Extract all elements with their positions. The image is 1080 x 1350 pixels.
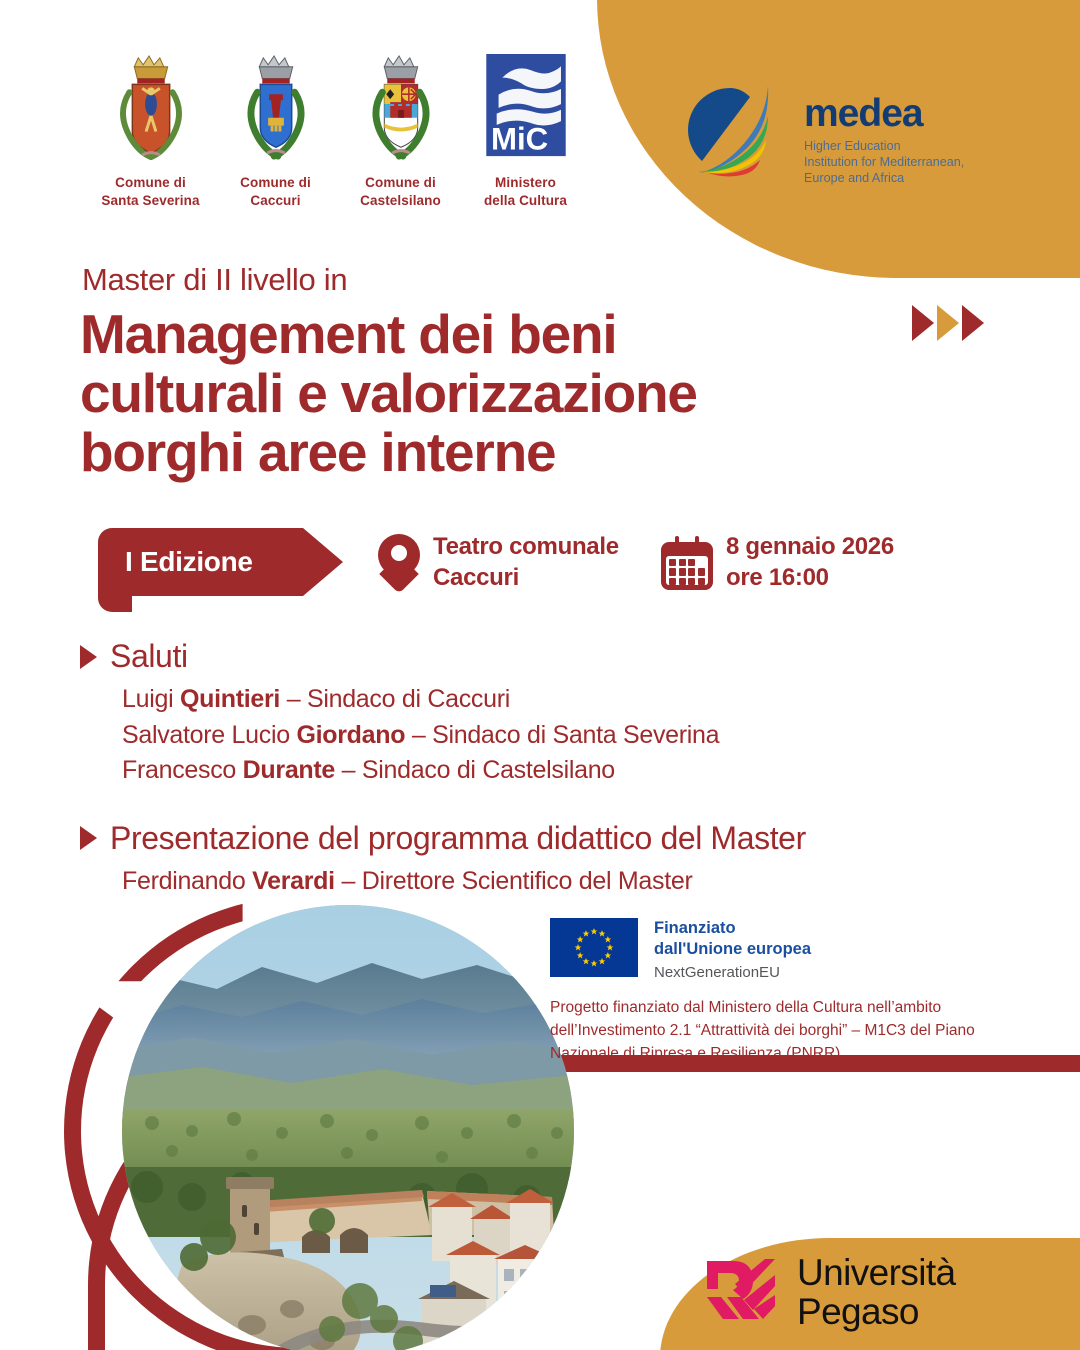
speaker-lastname: Durante xyxy=(243,756,335,784)
partner-caption-line2: Castelsilano xyxy=(338,192,463,210)
partner-caption: Comune di Santa Severina xyxy=(88,174,213,210)
program-entry: Salvatore Lucio Giordano – Sindaco di Sa… xyxy=(122,718,980,754)
triple-arrow-decoration xyxy=(912,305,984,341)
venue-info: Teatro comunale Caccuri xyxy=(378,532,619,593)
partner-caption: Comune di Castelsilano xyxy=(338,174,463,210)
program-heading: Presentazione del programma didattico de… xyxy=(80,820,980,857)
program-heading-label: Saluti xyxy=(110,638,188,675)
svg-text:MiC: MiC xyxy=(491,121,548,156)
partner-ministero-cultura: MiC Ministero della Cultura xyxy=(463,45,588,210)
universita-pegaso-logo: Università Pegaso xyxy=(705,1253,956,1331)
coat-of-arms-santa-severina-icon xyxy=(88,45,213,165)
medea-wordmark: medea xyxy=(804,94,964,133)
program-spacer xyxy=(80,789,980,820)
date-line1: 8 gennaio 2026 xyxy=(726,532,894,563)
village-photo xyxy=(122,905,574,1350)
arrow-icon-3 xyxy=(962,305,984,341)
medea-logo: medea Higher Education Institution for M… xyxy=(672,78,964,195)
program-group-presentazione: Presentazione del programma didattico de… xyxy=(80,820,980,900)
speaker-lastname: Quintieri xyxy=(180,685,280,713)
location-pin-icon xyxy=(378,534,420,592)
speaker-role: – Sindaco di Santa Severina xyxy=(405,721,719,749)
bullet-arrow-icon xyxy=(80,826,97,850)
kicker-text: Master di II livello in xyxy=(82,262,347,298)
speaker-firstname: Ferdinando xyxy=(122,867,252,895)
partner-caccuri: Comune di Caccuri xyxy=(213,45,338,210)
venue-line2: Caccuri xyxy=(433,563,619,594)
eu-funding-block: Finanziato dall'Unione europea NextGener… xyxy=(550,918,1020,1066)
date-info: 8 gennaio 2026 ore 16:00 xyxy=(661,532,894,593)
speaker-firstname: Salvatore Lucio xyxy=(122,721,296,749)
edition-badge-tail xyxy=(98,596,132,612)
program-heading: Saluti xyxy=(80,638,980,675)
pegaso-name-line2: Pegaso xyxy=(797,1292,956,1331)
speaker-lastname: Giordano xyxy=(296,721,405,749)
partner-santa-severina: Comune di Santa Severina xyxy=(88,45,213,210)
event-poster: Comune di Santa Severina xyxy=(0,0,1080,1350)
event-meta-row: I Edizione Teatro comunale Caccuri xyxy=(98,528,998,628)
partner-caption: Ministero della Cultura xyxy=(463,174,588,210)
pegaso-mark-icon xyxy=(705,1257,779,1328)
funding-note: Progetto finanziato dal Ministero della … xyxy=(550,997,1020,1066)
program-section: Saluti Luigi Quintieri – Sindaco di Cacc… xyxy=(80,638,980,899)
speaker-role: – Sindaco di Castelsilano xyxy=(335,756,615,784)
mic-ministry-logo-icon: MiC xyxy=(463,45,588,165)
pegaso-name-line1: Università xyxy=(797,1253,956,1292)
page-title: Management dei beni culturali e valorizz… xyxy=(80,305,960,482)
speaker-firstname: Francesco xyxy=(122,756,243,784)
date-text: 8 gennaio 2026 ore 16:00 xyxy=(726,532,894,593)
program-group-saluti: Saluti Luigi Quintieri – Sindaco di Cacc… xyxy=(80,638,980,789)
eu-programme-name: NextGenerationEU xyxy=(654,964,811,981)
medea-tagline: Higher Education Institution for Mediter… xyxy=(804,138,964,186)
venue-text: Teatro comunale Caccuri xyxy=(433,532,619,593)
edition-badge: I Edizione xyxy=(98,528,343,596)
partner-caption-line2: Caccuri xyxy=(213,192,338,210)
page-title-line1: Management dei beni xyxy=(80,305,960,364)
coat-of-arms-caccuri-icon xyxy=(213,45,338,165)
medea-tagline-line1: Higher Education xyxy=(804,138,964,154)
speaker-lastname: Verardi xyxy=(252,867,335,895)
date-line2: ore 16:00 xyxy=(726,563,894,594)
medea-mark-icon xyxy=(672,78,790,195)
partner-logos: Comune di Santa Severina xyxy=(88,45,588,210)
partner-caption-line2: della Cultura xyxy=(463,192,588,210)
partner-caption-line1: Comune di xyxy=(338,174,463,192)
edition-badge-label: I Edizione xyxy=(98,546,253,578)
program-heading-label: Presentazione del programma didattico de… xyxy=(110,820,806,857)
arrow-icon-1 xyxy=(912,305,934,341)
eu-funding-title-line1: Finanziato xyxy=(654,918,811,939)
european-union-flag-icon xyxy=(550,918,638,977)
medea-tagline-line3: Europe and Africa xyxy=(804,170,964,186)
partner-caption-line1: Ministero xyxy=(463,174,588,192)
eu-funding-title-line2: dall'Unione europea xyxy=(654,939,811,960)
page-title-line2: culturali e valorizzazione xyxy=(80,364,960,423)
bullet-arrow-icon xyxy=(80,645,97,669)
arrow-icon-2 xyxy=(937,305,959,341)
coat-of-arms-castelsilano-icon xyxy=(338,45,463,165)
program-entry: Francesco Durante – Sindaco di Castelsil… xyxy=(122,753,980,789)
partner-caption-line1: Comune di xyxy=(213,174,338,192)
calendar-icon xyxy=(661,536,713,590)
pegaso-wordmark: Università Pegaso xyxy=(797,1253,956,1331)
partner-caption-line2: Santa Severina xyxy=(88,192,213,210)
medea-tagline-line2: Institution for Mediterranean, xyxy=(804,154,964,170)
speaker-firstname: Luigi xyxy=(122,685,180,713)
program-entry: Luigi Quintieri – Sindaco di Caccuri xyxy=(122,682,980,718)
program-entry: Ferdinando Verardi – Direttore Scientifi… xyxy=(122,864,980,900)
partner-castelsilano: Comune di Castelsilano xyxy=(338,45,463,210)
partner-caption-line1: Comune di xyxy=(88,174,213,192)
speaker-role: – Direttore Scientifico del Master xyxy=(335,867,693,895)
page-title-line3: borghi aree interne xyxy=(80,423,960,482)
program-entries: Luigi Quintieri – Sindaco di Caccuri Sal… xyxy=(122,682,980,789)
venue-line1: Teatro comunale xyxy=(433,532,619,563)
partner-caption: Comune di Caccuri xyxy=(213,174,338,210)
program-entries: Ferdinando Verardi – Direttore Scientifi… xyxy=(122,864,980,900)
speaker-role: – Sindaco di Caccuri xyxy=(280,685,510,713)
